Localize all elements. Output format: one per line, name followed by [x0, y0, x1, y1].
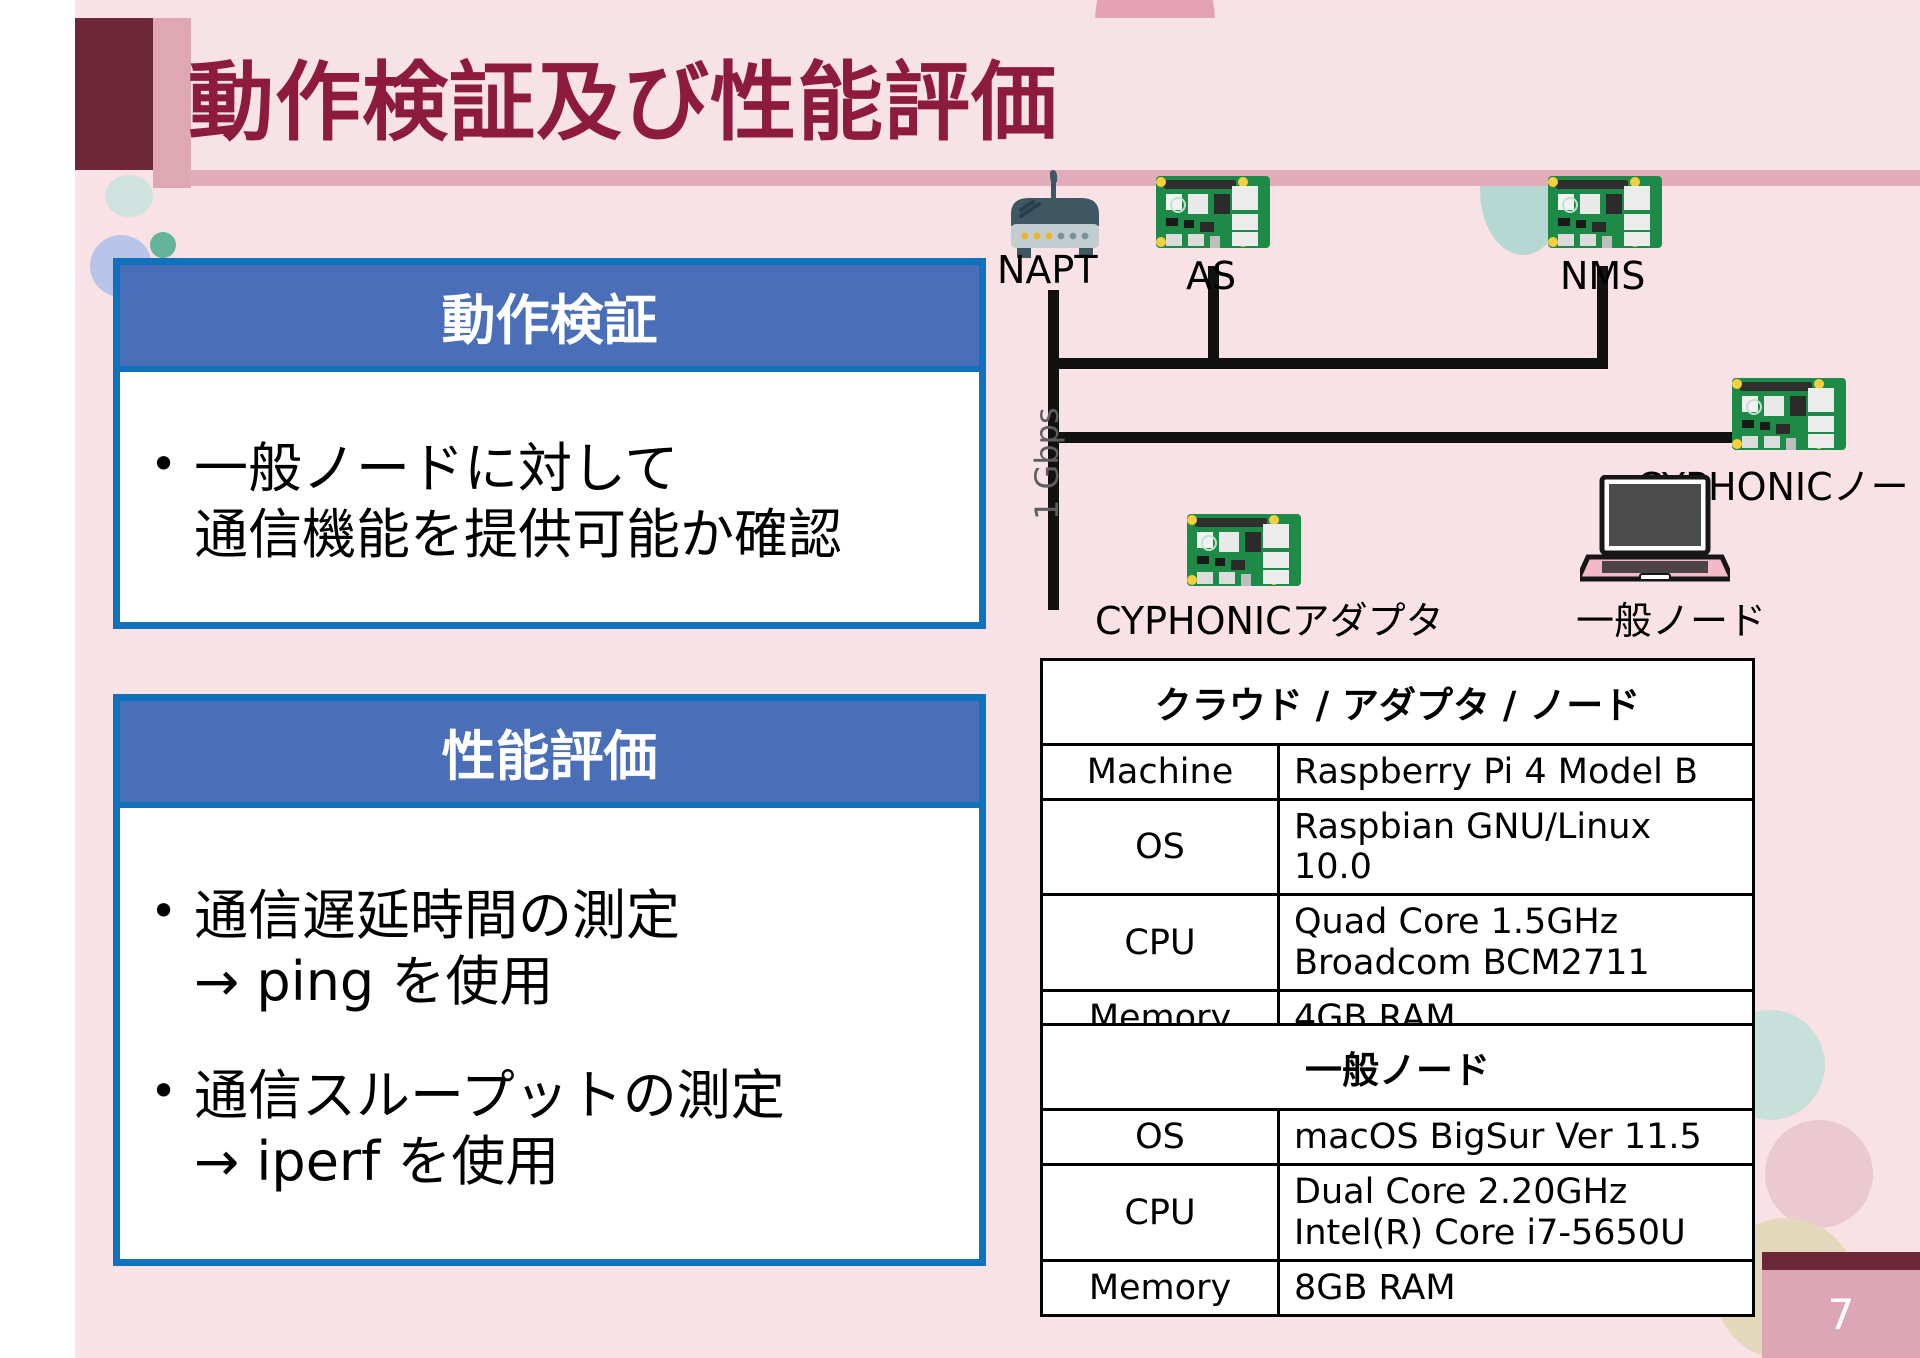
bullet-marker-icon: • — [150, 883, 194, 939]
table-cell-value: macOS BigSur Ver 11.5 — [1279, 1110, 1754, 1165]
decor-blob-green-dot — [150, 232, 176, 258]
node-label-nms: NMS — [1560, 254, 1645, 298]
panel-body-operation-verification: • 一般ノードに対して 通信機能を提供可能か確認 — [120, 372, 979, 628]
raspberry-pi-icon — [1730, 374, 1848, 456]
panel-operation-verification: 動作検証 • 一般ノードに対して 通信機能を提供可能か確認 — [113, 258, 986, 629]
page-number-badge-accent — [1762, 1252, 1920, 1270]
page-title: 動作検証及び性能評価 — [188, 18, 1058, 170]
bullet-marker-icon: • — [150, 436, 194, 492]
table-cell-key: CPU — [1042, 1165, 1279, 1261]
spec-table-cloud-adapter-node: クラウド / アダプタ / ノード Machine Raspberry Pi 4… — [1040, 658, 1755, 1047]
table-header-row: 一般ノード — [1042, 1025, 1754, 1110]
panel-body-performance-evaluation: • 通信遅延時間の測定 → ping を使用 • 通信スループットの測定 → i… — [120, 808, 979, 1266]
panel-header-performance-evaluation: 性能評価 — [120, 701, 979, 808]
table-header-row: クラウド / アダプタ / ノード — [1042, 660, 1754, 745]
table-row: CPU Dual Core 2.20GHz Intel(R) Core i7-5… — [1042, 1165, 1754, 1261]
list-item: • 一般ノードに対して 通信機能を提供可能か確認 — [150, 436, 842, 568]
link-speed-label: 1 Gbps — [1028, 407, 1066, 520]
decor-blob-teal-left — [105, 175, 153, 217]
panel-header-operation-verification: 動作検証 — [120, 265, 979, 372]
table-row: Memory 8GB RAM — [1042, 1261, 1754, 1316]
bullet-text: 一般ノードに対して 通信機能を提供可能か確認 — [194, 436, 842, 568]
table-cell-key: CPU — [1042, 895, 1279, 991]
table-cell-value: Raspbian GNU/Linux 10.0 — [1279, 800, 1754, 895]
node-label-napt: NAPT — [997, 248, 1098, 292]
node-label-as: AS — [1186, 254, 1236, 298]
slide: 動作検証及び性能評価 動作検証 • 一般ノードに対して 通信機能を提供可能か確認… — [0, 0, 1920, 1358]
title-accent-light — [153, 18, 191, 188]
decor-blob-pink-bottomright — [1765, 1120, 1873, 1228]
table-cell-value: 8GB RAM — [1279, 1261, 1754, 1316]
node-label-general-node: 一般ノード — [1576, 590, 1766, 645]
table-row: Machine Raspberry Pi 4 Model B — [1042, 745, 1754, 800]
page-number: 7 — [1762, 1270, 1920, 1358]
node-label-cyphonic-adapter: CYPHONICアダプタ — [1095, 590, 1444, 645]
table-row: OS Raspbian GNU/Linux 10.0 — [1042, 800, 1754, 895]
table-cell-key: OS — [1042, 800, 1279, 895]
wire-bus-lower — [1048, 432, 1788, 443]
network-diagram: 1 Gbps NAPT — [990, 170, 1920, 640]
list-item: • 通信スループットの測定 → iperf を使用 — [150, 1063, 957, 1195]
raspberry-pi-icon — [1546, 172, 1664, 254]
wire-bus-upper — [1048, 358, 1608, 369]
panel-performance-evaluation: 性能評価 • 通信遅延時間の測定 → ping を使用 • 通信スループットの測… — [113, 694, 986, 1266]
table-cell-value: Raspberry Pi 4 Model B — [1279, 745, 1754, 800]
raspberry-pi-icon — [1185, 510, 1303, 592]
laptop-icon — [1580, 475, 1730, 593]
table-cell-value: Dual Core 2.20GHz Intel(R) Core i7-5650U — [1279, 1165, 1754, 1261]
raspberry-pi-icon — [1154, 172, 1272, 254]
bullet-text: 通信スループットの測定 → iperf を使用 — [194, 1063, 957, 1195]
table-cell-key: Memory — [1042, 1261, 1279, 1316]
bullet-marker-icon: • — [150, 1063, 194, 1119]
table-title: 一般ノード — [1042, 1025, 1754, 1110]
table-title: クラウド / アダプタ / ノード — [1042, 660, 1754, 745]
table-cell-value: Quad Core 1.5GHz Broadcom BCM2711 — [1279, 895, 1754, 991]
table-row: CPU Quad Core 1.5GHz Broadcom BCM2711 — [1042, 895, 1754, 991]
table-cell-key: Machine — [1042, 745, 1279, 800]
list-item: • 通信遅延時間の測定 → ping を使用 — [150, 883, 957, 1015]
spec-table-general-node: 一般ノード OS macOS BigSur Ver 11.5 CPU Dual … — [1040, 1023, 1755, 1317]
bullet-text: 通信遅延時間の測定 → ping を使用 — [194, 883, 957, 1015]
table-cell-key: OS — [1042, 1110, 1279, 1165]
table-row: OS macOS BigSur Ver 11.5 — [1042, 1110, 1754, 1165]
title-accent-dark — [75, 18, 153, 170]
